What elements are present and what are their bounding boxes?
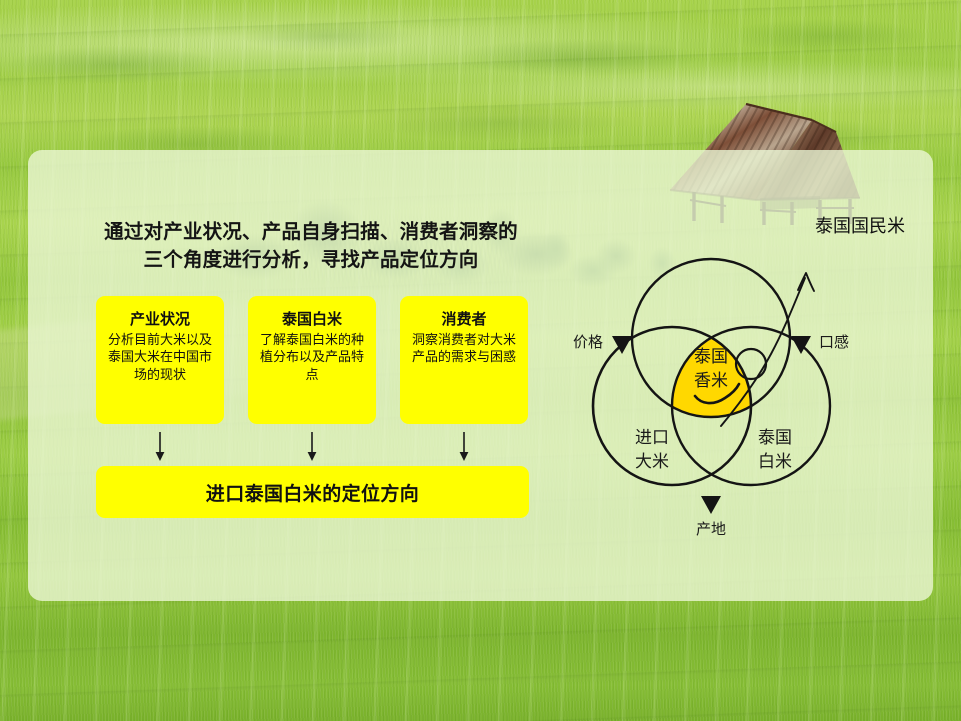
card-body: 分析目前大米以及泰国大米在中国市场的现状 [106, 332, 214, 384]
triangle-down-icon-origin [701, 496, 721, 514]
venn-label-top-line2: 香米 [694, 371, 728, 391]
card-body: 洞察消费者对大米产品的需求与困惑 [410, 332, 518, 367]
venn-label-right-line1: 泰国 [758, 428, 792, 448]
slide-canvas: 通过对产业状况、产品自身扫描、消费者洞察的 三个角度进行分析，寻找产品定位方向 … [0, 0, 961, 721]
analysis-card-product[interactable]: 泰国白米 了解泰国白米的种植分布以及产品特点 [248, 296, 376, 424]
headline-line-1: 通过对产业状况、产品自身扫描、消费者洞察的 [96, 218, 526, 246]
venn-label-top-line1: 泰国 [694, 347, 728, 367]
venn-diagram: 泰国 香米 进口 大米 泰国 白米 价格 口感 产地 泰国国民米 [555, 190, 955, 550]
conclusion-label: 进口泰国白米的定位方向 [206, 479, 419, 506]
venn-goal-label: 泰国国民米 [815, 216, 905, 237]
conclusion-banner[interactable]: 进口泰国白米的定位方向 [96, 466, 529, 518]
venn-label-left-line2: 大米 [635, 452, 669, 472]
card-body: 了解泰国白米的种植分布以及产品特点 [258, 332, 366, 384]
loop-circle [736, 349, 766, 379]
page-title: 通过对产业状况、产品自身扫描、消费者洞察的 三个角度进行分析，寻找产品定位方向 [96, 218, 526, 273]
headline-line-2: 三个角度进行分析，寻找产品定位方向 [96, 246, 526, 274]
axis-label-taste: 口感 [819, 333, 849, 351]
arrow-down-icon [153, 432, 167, 462]
card-title: 泰国白米 [258, 310, 366, 328]
analysis-card-industry[interactable]: 产业状况 分析目前大米以及泰国大米在中国市场的现状 [96, 296, 224, 424]
arrow-down-icon [457, 432, 471, 462]
axis-label-price: 价格 [573, 333, 603, 351]
venn-label-left-line1: 进口 [635, 428, 669, 448]
arrow-down-icon [305, 432, 319, 462]
card-title: 产业状况 [106, 310, 214, 328]
axis-label-origin: 产地 [696, 520, 726, 538]
card-title: 消费者 [410, 310, 518, 328]
analysis-card-consumer[interactable]: 消费者 洞察消费者对大米产品的需求与困惑 [400, 296, 528, 424]
venn-label-right-line2: 白米 [758, 452, 792, 472]
